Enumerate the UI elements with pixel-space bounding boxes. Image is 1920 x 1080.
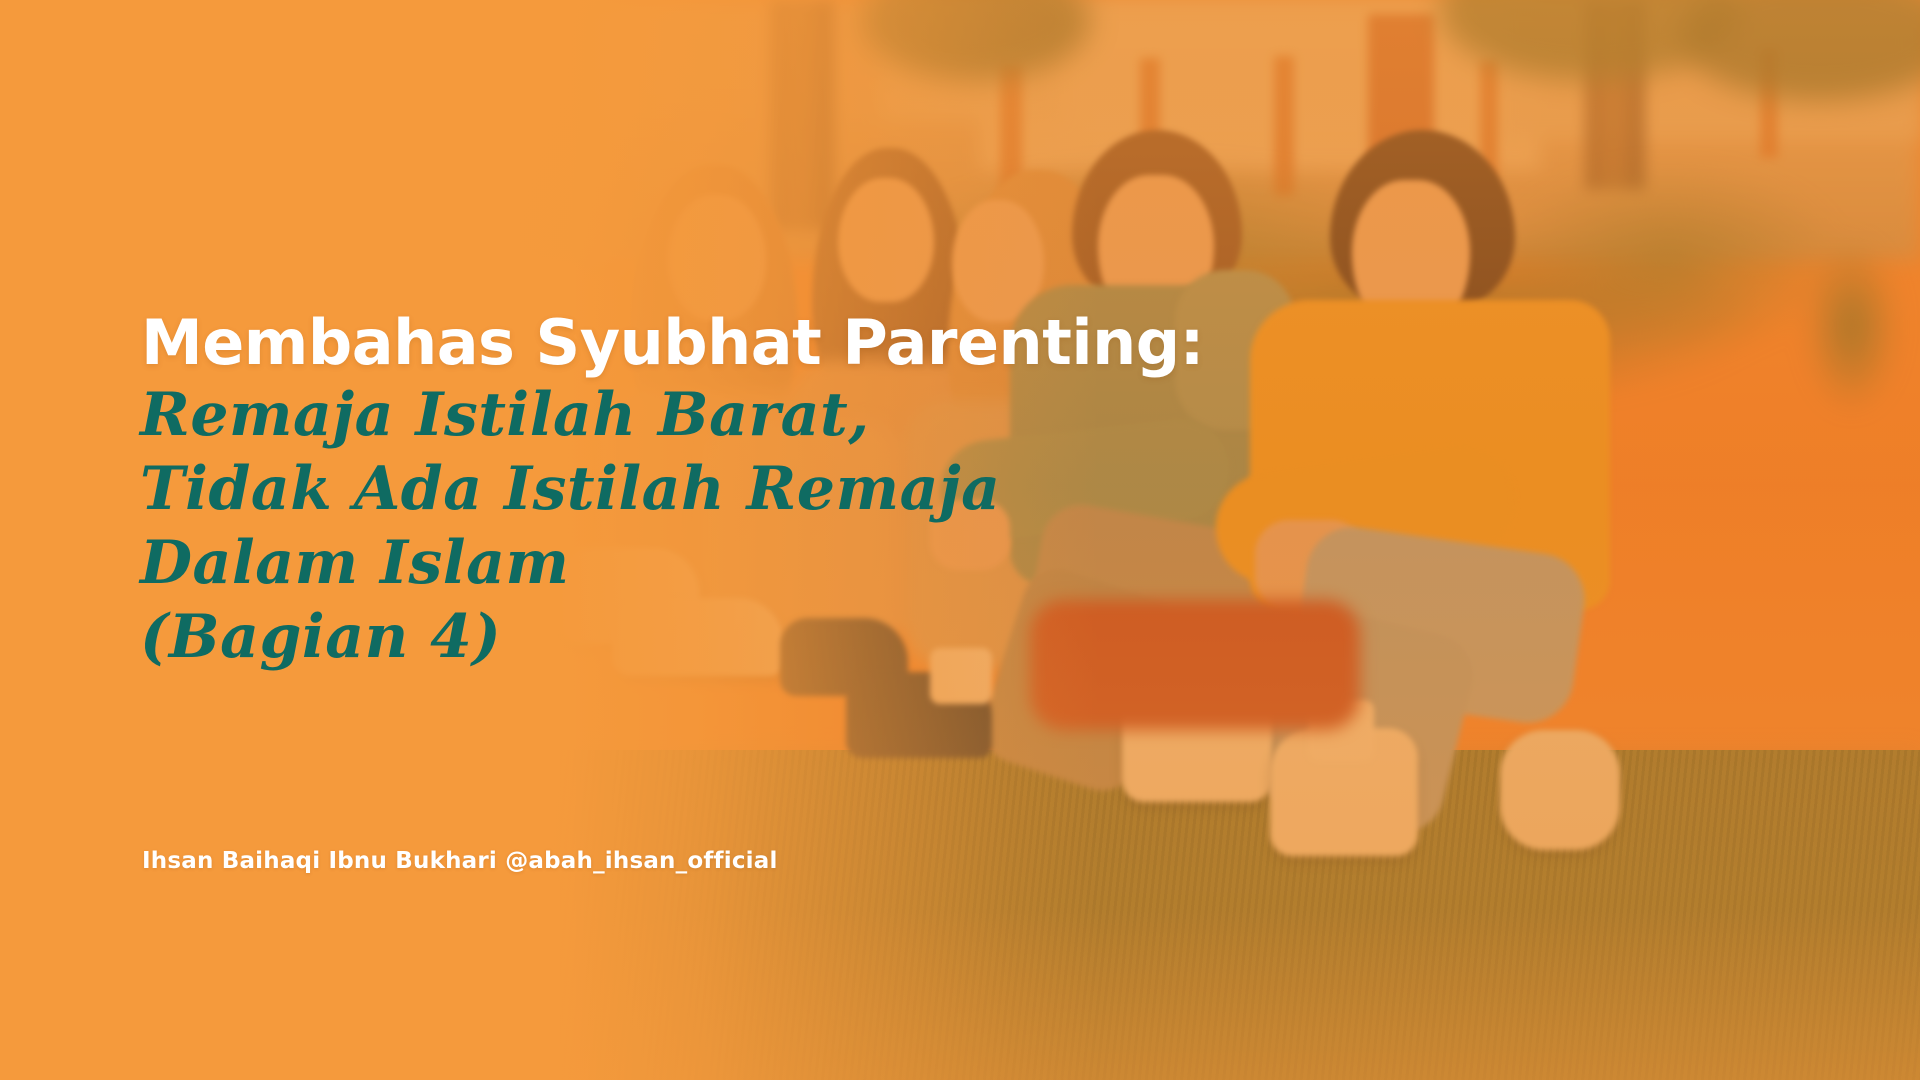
text-content: Membahas Syubhat Parenting: Remaja Istil…: [0, 0, 1920, 1080]
author-credit: Ihsan Baihaqi Ibnu Bukhari @abah_ihsan_o…: [142, 848, 778, 874]
page-title: Membahas Syubhat Parenting:: [141, 312, 1204, 374]
subtitle-line-2: Tidak Ada Istilah Remaja: [140, 452, 1001, 526]
subtitle-line-3: Dalam Islam: [140, 526, 1001, 600]
social-media-graphic: Membahas Syubhat Parenting: Remaja Istil…: [0, 0, 1920, 1080]
subtitle-line-1: Remaja Istilah Barat,: [140, 378, 1001, 452]
subtitle-block: Remaja Istilah Barat, Tidak Ada Istilah …: [140, 378, 1001, 674]
subtitle-line-4: (Bagian 4): [140, 600, 1001, 674]
